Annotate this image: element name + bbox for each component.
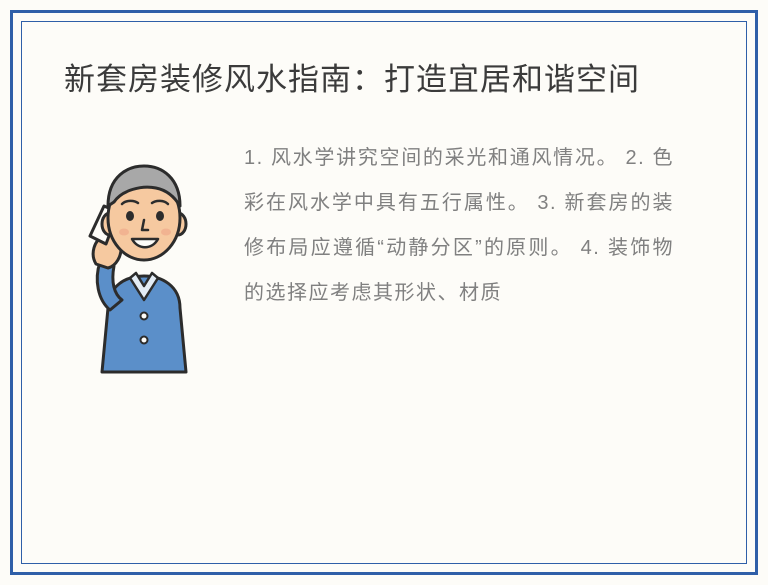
article-body: 1. 风水学讲究空间的采光和通风情况。 2. 色彩在风水学中具有五行属性。 3.…	[60, 136, 708, 380]
elderly-man-cartoon-icon	[74, 140, 214, 380]
document-page: 新套房装修风水指南：打造宜居和谐空间	[0, 0, 768, 585]
document-content: 新套房装修风水指南：打造宜居和谐空间	[34, 34, 734, 551]
page-title: 新套房装修风水指南：打造宜居和谐空间	[60, 56, 664, 104]
body-paragraph: 1. 风水学讲究空间的采光和通风情况。 2. 色彩在风水学中具有五行属性。 3.…	[244, 136, 674, 316]
